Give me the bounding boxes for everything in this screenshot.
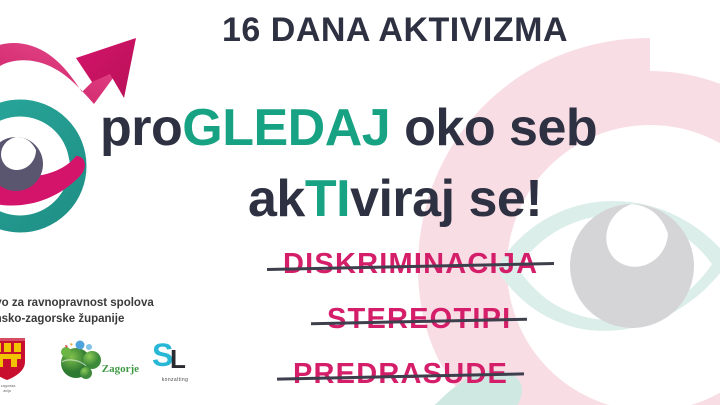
organisation-credit-line-1: nstvo za ravnopravnost spolova <box>0 295 208 311</box>
zagorje-wordmark: Zagorje <box>102 363 139 375</box>
coat-of-arms-caption-line-2: anija <box>3 389 11 393</box>
coat-of-arms-caption-line-1: r zagorska <box>0 384 15 388</box>
sl-konzalting-mark-icon: S L <box>150 336 200 376</box>
zagorje-globe-icon <box>56 336 108 382</box>
headline-line1-part1: pro <box>100 99 182 157</box>
struck-word-diskriminacija: DISKRIMINACIJA <box>283 248 538 281</box>
headline-line-1: proGLEDAJ oko seb <box>100 98 597 158</box>
poster-canvas: 16 DANA AKTIVIZMA proGLEDAJ oko seb akTI… <box>0 0 720 405</box>
headline-line1-accent: GLEDAJ <box>182 99 390 157</box>
partner-logo-zagorje: Zagorje <box>56 336 108 382</box>
struck-word-stereotipi: STEREOTIPI <box>327 303 511 336</box>
headline-kicker: 16 DANA AKTIVIZMA <box>222 11 568 50</box>
struck-word-predrasude: PREDRASUDE <box>293 358 508 391</box>
organisation-credit: nstvo za ravnopravnost spolova apinsko-z… <box>0 295 208 328</box>
sl-konzalting-caption: konzalting <box>162 377 189 383</box>
organisation-credit-line-2: apinsko-zagorske županije <box>0 311 208 327</box>
headline-line1-part3: oko seb <box>390 99 597 157</box>
headline-line2-accent: TI <box>305 170 350 228</box>
coat-of-arms-caption: r zagorska anija <box>0 384 15 394</box>
svg-text:L: L <box>170 344 186 374</box>
headline-line2-part1: ak <box>248 170 305 228</box>
headline-line2-part3: viraj se! <box>350 170 542 228</box>
partner-logo-strip: r zagorska anija <box>0 336 200 394</box>
partner-logo-sl-konzalting: S L konzalting <box>150 336 200 383</box>
headline-line-2: akTIviraj se! <box>248 169 542 229</box>
coat-of-arms-icon <box>0 336 28 382</box>
partner-logo-coat-of-arms: r zagorska anija <box>0 336 28 394</box>
